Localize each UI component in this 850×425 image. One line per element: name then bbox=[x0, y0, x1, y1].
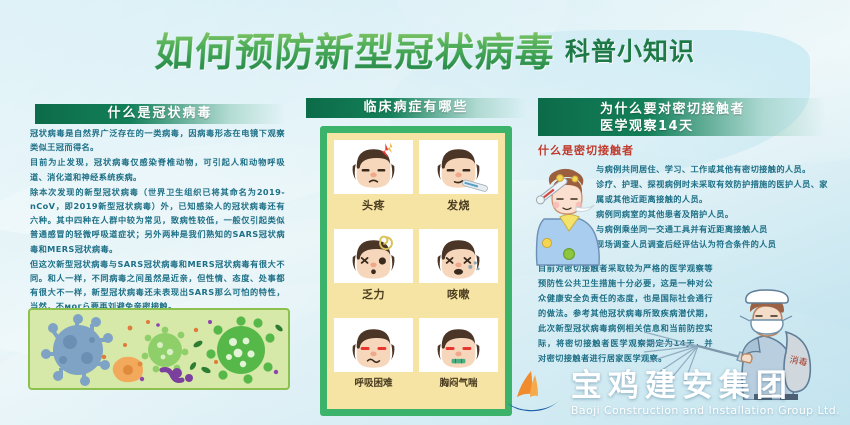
poster-root: 如何预防新型冠状病毒科普小知识 什么是冠状病毒 冠状病毒是自然界广泛存在的一类病… bbox=[0, 0, 850, 425]
cough-face-icon bbox=[419, 229, 498, 283]
symptom-label: 胸闷气喘 bbox=[439, 375, 477, 389]
left-paragraph: 目前为止发现，冠状病毒仅感染脊椎动物，可引起人和动物呼吸道、消化道和神经系统疾病… bbox=[30, 155, 285, 183]
logo-chinese-name: 宝鸡建安集团 bbox=[571, 369, 840, 403]
left-paragraph: 但这次新型冠状病毒与SARS冠状病毒和MERS冠状病毒有很大不同。和人一样，不同… bbox=[30, 257, 285, 314]
fever-thermometer-face-icon bbox=[419, 140, 498, 194]
sick-person-thermometer-illustration bbox=[530, 155, 602, 267]
symptom-label: 乏力 bbox=[362, 286, 385, 302]
breathing-difficulty-face-icon bbox=[334, 318, 413, 372]
symptom-item: 头疼 bbox=[334, 140, 413, 224]
symptom-frame: 头疼 bbox=[320, 126, 512, 416]
virus-illustration bbox=[28, 308, 290, 390]
title-main-text: 如何预防新型冠状病毒 bbox=[153, 22, 557, 78]
symptom-item: 发烧 bbox=[419, 140, 498, 224]
left-paragraph: 冠状病毒是自然界广泛存在的一类病毒，因病毒形态在电镜下观察类似王冠而得名。 bbox=[30, 126, 285, 154]
symptom-label: 咳嗽 bbox=[447, 286, 470, 302]
left-panel-body: 冠状病毒是自然界广泛存在的一类病毒，因病毒形态在电镜下观察类似王冠而得名。 目前… bbox=[30, 104, 285, 315]
symptom-item: 胸闷气喘 bbox=[419, 318, 498, 402]
sail-flame-logo-mark bbox=[505, 369, 563, 413]
headache-face-icon bbox=[334, 140, 413, 194]
definition-item: 与病例乘坐同一交通工具并有近距离接触人员 bbox=[596, 222, 830, 237]
fatigue-dizzy-face-icon bbox=[334, 229, 413, 283]
symptom-label: 头疼 bbox=[362, 197, 385, 213]
virus-cells-svg bbox=[30, 310, 288, 388]
company-logo: 宝鸡建安集团 Baoji Construction and Installati… bbox=[571, 369, 840, 417]
symptom-item: 乏力 bbox=[334, 229, 413, 313]
poster-title: 如何预防新型冠状病毒科普小知识 bbox=[0, 22, 850, 78]
definition-item: 诊疗、护理、探视病例时未采取有效防护措施的医护人员、家属或其他近距离接触的人员。 bbox=[596, 177, 830, 207]
chest-tightness-face-icon bbox=[419, 318, 498, 372]
logo-english-name: Baoji Construction and Installation Grou… bbox=[571, 404, 840, 417]
center-panel-header: 临床病症有哪些 bbox=[306, 98, 526, 118]
symptom-label: 呼吸困难 bbox=[354, 375, 392, 389]
symptom-label: 发烧 bbox=[447, 197, 470, 213]
definition-item: 与病例共同居住、学习、工作或其他有密切接触的人员。 bbox=[596, 162, 830, 177]
left-paragraph: 除本次发现的新型冠状病毒（世界卫生组织已将其命名为2019-nCoV，即2019… bbox=[30, 185, 285, 256]
symptom-item: 呼吸困难 bbox=[334, 318, 413, 402]
symptom-item: 咳嗽 bbox=[419, 229, 498, 313]
title-sub-text: 科普小知识 bbox=[565, 32, 695, 68]
symptom-grid: 头疼 bbox=[327, 133, 505, 409]
definition-item: 病例同病室的其他患者及陪护人员。 bbox=[596, 207, 830, 222]
definition-item: 现场调查人员调查后经评估认为符合条件的人员 bbox=[596, 237, 830, 252]
